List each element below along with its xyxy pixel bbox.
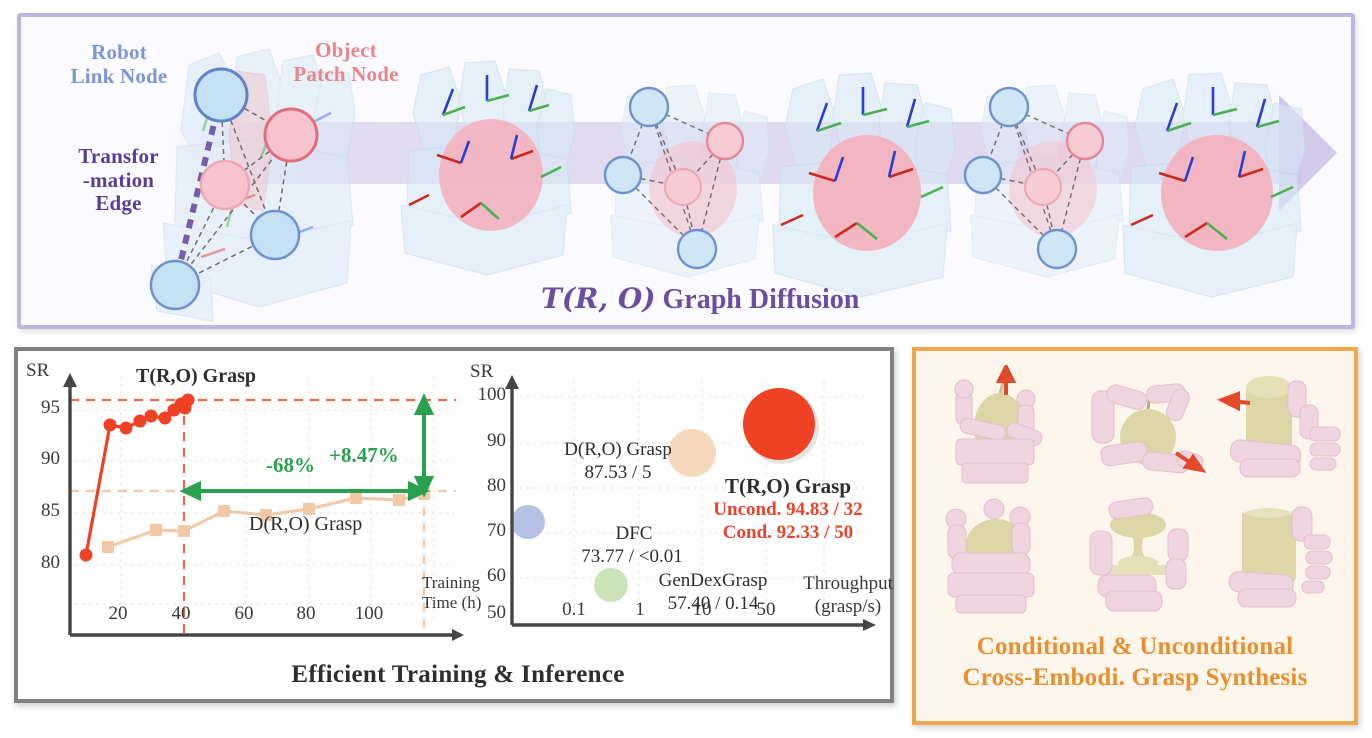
gain-annotation-label: +8.47% [329,443,399,468]
grasp-cell-2 [1076,365,1216,500]
grasp-cell-1 [938,365,1068,500]
dfc-bubble-value: 73.77 / <0.01 [542,546,722,568]
line-ytick-80: 80 [20,552,60,574]
line-ytick-85: 85 [20,500,60,522]
line-ytick-90: 90 [20,448,60,470]
gain-arrow-vertical [417,398,431,493]
line-xtick-80: 80 [286,603,326,625]
scatter-ytick-70: 70 [458,520,506,542]
grasp-cell-5 [1072,489,1212,626]
grasp-synthesis-caption: Conditional & Unconditional Cross-Embodi… [916,631,1354,694]
object-patch-node-label: Object Patch Node [261,39,431,86]
graph-diffusion-canvas: Robot Link Node Object Patch Node Transf… [21,17,1351,325]
scatter-ytick-100: 100 [458,384,506,406]
grasp-synthesis-canvas: Conditional & Unconditional Cross-Embodi… [916,351,1354,721]
x-axis-arrow [452,629,464,641]
scatter-ytick-90: 90 [458,430,506,452]
robot-hand-illustration-2 [391,55,601,285]
tro-bubble-label: T(R,O) Grasp [678,474,898,499]
dro-series-label: D(R,O) Grasp [249,513,362,536]
charts-panel: 95 90 85 80 SR 20 40 60 80 100 Training … [14,347,894,703]
graph-diffusion-title-symbol: T(R, O) [541,282,656,315]
gendexgrasp-bubble-value: 57.40 / 0.14 [618,593,808,615]
scatter-ytick-50: 50 [458,602,506,624]
robot-link-node-label: Robot Link Node [39,41,199,88]
scatter-y-axis-title: SR [470,361,493,383]
tro-series-label: T(R,O) Grasp [136,365,256,388]
grasp-cell-4 [934,491,1064,626]
graph-diffusion-title-text: Graph Diffusion [656,284,860,315]
charts-caption: Efficient Training & Inference [148,661,768,689]
dro-bubble-label: D(R,O) Grasp [538,439,698,461]
saving-arrow-horizontal [184,484,425,498]
line-ytick-95: 95 [20,397,60,419]
grasp-caption-line1: Conditional & Unconditional [977,633,1294,660]
graph-diffusion-panel: Robot Link Node Object Patch Node Transf… [17,13,1355,329]
grasp-caption-line2: Cross-Embodi. Grasp Synthesis [963,664,1308,691]
grasp-cell-6 [1208,489,1348,626]
gendexgrasp-bubble-label: GenDexGrasp [618,570,808,592]
transformation-edge-label: Transfor -mation Edge [41,145,196,216]
scatter-x-axis-title: Throughput (grasp/s) [798,573,898,619]
dro-bubble-value: 87.53 / 5 [538,462,698,484]
robot-hand-illustration-4 [761,67,981,307]
scatter-y-axis-arrow [505,375,519,389]
line-xtick-100: 100 [344,603,394,625]
robot-hand-illustration-6 [1111,67,1331,307]
grasp-cell-3 [1214,363,1349,498]
line-xtick-60: 60 [224,603,264,625]
scatter-x-axis-title-l1: Throughput [803,573,893,594]
scatter-x-axis-arrow [863,619,876,631]
line-xtick-40: 40 [161,603,201,625]
scatter-xtick-0-1: 0.1 [553,599,595,621]
tro-bubble-uncond: Uncond. 94.83 / 32 [658,499,918,521]
scatter-ytick-80: 80 [458,475,506,497]
saving-annotation-label: -68% [266,453,315,478]
bubble-tro-grasp [743,388,815,460]
bubble-dfc [511,505,545,539]
scatter-ytick-60: 60 [458,565,506,587]
graph-diffusion-title: T(R, O) Graph Diffusion [541,282,859,316]
scatter-x-axis-title-l2: (grasp/s) [815,596,881,617]
tro-bubble-cond: Cond. 92.33 / 50 [658,522,918,544]
dro-bubble-name: D(R,O) Grasp [564,439,672,460]
y-axis-arrow [63,373,77,387]
charts-canvas: 95 90 85 80 SR 20 40 60 80 100 Training … [18,351,890,699]
grasp-synthesis-panel: Conditional & Unconditional Cross-Embodi… [912,347,1358,725]
line-y-axis-title: SR [26,360,49,382]
line-xtick-20: 20 [98,603,138,625]
